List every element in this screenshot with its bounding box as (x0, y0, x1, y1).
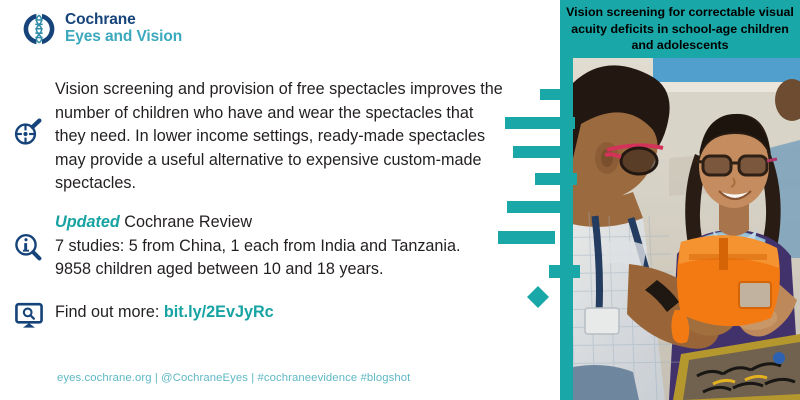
decor-vertical-rule (560, 58, 573, 400)
find-out-more-line: Find out more: bit.ly/2EvJyRc (55, 303, 274, 322)
find-out-more-link[interactable]: bit.ly/2EvJyRc (164, 303, 274, 321)
review-details-block: Updated Cochrane Review 7 studies: 5 fro… (55, 211, 515, 282)
review-status-label: Updated (55, 213, 120, 231)
cochrane-logo: Cochrane Eyes and Vision (22, 12, 182, 46)
find-out-more-label: Find out more: (55, 303, 159, 321)
key-message-text: Vision screening and provision of free s… (55, 78, 505, 196)
cochrane-logo-icon (22, 12, 56, 46)
logo-text-eyes-and-vision: Eyes and Vision (65, 29, 182, 46)
review-type-label: Cochrane Review (124, 213, 252, 231)
logo-text-cochrane: Cochrane (65, 12, 182, 29)
eye-chart-target-icon (12, 116, 44, 148)
footer-credits: eyes.cochrane.org | @CochraneEyes | #coc… (57, 372, 410, 384)
cochrane-blogshot: Cochrane Eyes and Vision (0, 0, 800, 400)
info-magnifier-icon (12, 231, 44, 263)
monitor-search-icon (14, 300, 46, 332)
studies-summary-text: 7 studies: 5 from China, 1 each from Ind… (55, 237, 461, 255)
left-content-panel: Cochrane Eyes and Vision (0, 0, 560, 400)
participants-summary-text: 9858 children aged between 10 and 18 yea… (55, 260, 384, 278)
vision-screening-photo (573, 58, 800, 400)
page-title: Vision screening for correctable visual … (562, 4, 798, 54)
